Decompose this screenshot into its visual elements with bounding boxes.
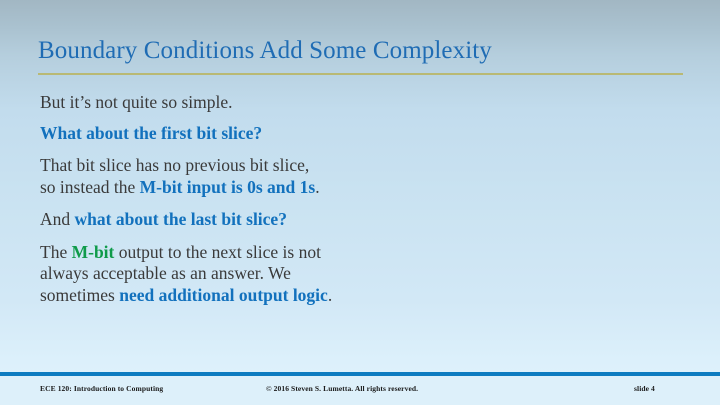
slide-body: But it’s not quite so simple. What about… xyxy=(40,92,680,315)
paragraph-5-line1-rest: output to the next slice is not xyxy=(114,242,321,262)
slide-footer: ECE 120: Introduction to Computing © 201… xyxy=(0,376,720,405)
paragraph-5-suffix: . xyxy=(328,285,332,305)
body-paragraph-1: But it’s not quite so simple. xyxy=(40,92,680,114)
paragraph-1-text: But it’s not quite so simple. xyxy=(40,92,233,112)
paragraph-5-prefix: The xyxy=(40,242,72,262)
paragraph-4-prefix: And xyxy=(40,209,75,229)
paragraph-3-suffix: . xyxy=(315,177,319,197)
body-paragraph-2: What about the first bit slice? xyxy=(40,123,680,145)
paragraph-2-question-highlight: What about the first bit slice? xyxy=(40,123,262,143)
paragraph-3-highlight: M-bit input is 0s and 1s xyxy=(140,177,316,197)
paragraph-5-line2: always acceptable as an answer. We xyxy=(40,263,291,283)
slide-title: Boundary Conditions Add Some Complexity xyxy=(38,36,688,66)
footer-slide-number: slide 4 xyxy=(634,384,655,393)
slide-canvas: Boundary Conditions Add Some Complexity … xyxy=(0,0,720,405)
footer-course-label: ECE 120: Introduction to Computing xyxy=(40,384,163,393)
title-underline-rule xyxy=(38,73,683,75)
body-paragraph-4: And what about the last bit slice? xyxy=(40,209,680,231)
body-paragraph-5: The M-bit output to the next slice is no… xyxy=(40,242,680,307)
paragraph-3-line1: That bit slice has no previous bit slice… xyxy=(40,155,309,175)
paragraph-5-line3-prefix: sometimes xyxy=(40,285,119,305)
body-paragraph-3: That bit slice has no previous bit slice… xyxy=(40,155,680,198)
footer-copyright-label: © 2016 Steven S. Lumetta. All rights res… xyxy=(266,384,418,393)
paragraph-4-question-highlight: what about the last bit slice? xyxy=(75,209,287,229)
paragraph-5-logic-highlight: need additional output logic xyxy=(119,285,328,305)
paragraph-5-mbit-highlight: M-bit xyxy=(72,242,115,262)
paragraph-3-line2-prefix: so instead the xyxy=(40,177,140,197)
